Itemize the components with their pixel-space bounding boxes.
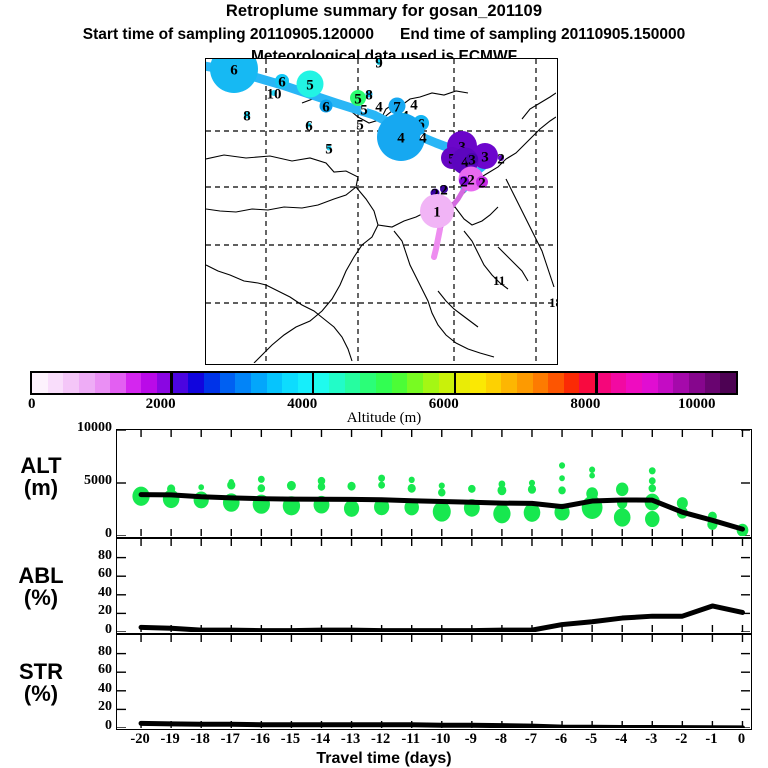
colorbar-band (517, 373, 533, 393)
xaxis-tick-label: -4 (615, 731, 627, 748)
alt-ytick-label: 0 (44, 526, 112, 542)
colorbar-band (267, 373, 283, 393)
xaxis-tick-label: -18 (191, 731, 210, 748)
alt-plot (117, 430, 750, 536)
alt-cluster-blob (287, 481, 296, 491)
alt-cluster-blob (528, 485, 536, 494)
colorbar-band (439, 373, 455, 393)
alt-cluster-blob (258, 476, 265, 483)
ytick-label: 20 (44, 603, 112, 619)
colorbar-separator (312, 371, 315, 395)
colorbar-band (533, 373, 549, 393)
xaxis-tick-label: -8 (495, 731, 507, 748)
map-cluster-label: 9 (375, 59, 383, 72)
xaxis-tick-label: -20 (130, 731, 149, 748)
colorbar-band (345, 373, 361, 393)
alt-cluster-blob (439, 482, 445, 488)
colorbar-band (611, 373, 627, 393)
alt-ytick-label: 10000 (44, 420, 112, 436)
colorbar-gradient (30, 371, 738, 395)
colorbar-band (423, 373, 439, 393)
alt-cluster-blob (589, 473, 595, 479)
colorbar-band (454, 373, 470, 393)
map-cluster-label: 5 (306, 78, 314, 94)
alt-cluster-blob (649, 484, 657, 492)
colorbar-band (220, 373, 236, 393)
alt-cluster-blob (559, 475, 565, 481)
xaxis-tick-label: -5 (585, 731, 597, 748)
map-cluster-label: 10 (267, 87, 282, 103)
alt-cluster-blob (198, 484, 204, 490)
xaxis-tick-label: -6 (555, 731, 567, 748)
colorbar-band (376, 373, 392, 393)
abl-plot (117, 539, 750, 632)
colorbar-band (689, 373, 705, 393)
colorbar-band (548, 373, 564, 393)
ytick-label: 0 (44, 622, 112, 638)
xaxis-tick-label: -2 (675, 731, 687, 748)
colorbar-band (501, 373, 517, 393)
colorbar-title: Altitude (m) (0, 410, 768, 427)
xaxis-tick-label: -12 (371, 731, 390, 748)
ytick-label: 40 (44, 681, 112, 697)
alt-cluster-blob (614, 508, 631, 526)
alt-chart-panel[interactable] (116, 429, 752, 538)
alt-cluster-blob (558, 486, 566, 494)
map-cluster-label: 5 (354, 92, 362, 108)
ytick-label: 60 (44, 566, 112, 582)
alt-cluster-blob (258, 484, 266, 492)
ytick-label: 20 (44, 699, 112, 715)
alt-cluster-blob (378, 475, 385, 482)
xaxis-tick-label: -13 (341, 731, 360, 748)
map-cluster-label: 8 (365, 88, 373, 104)
colorbar-band (48, 373, 64, 393)
altitude-colorbar (30, 371, 738, 395)
end-time-label: End time of sampling 20110905.150000 (400, 26, 685, 44)
map-cluster-label: 2 (497, 152, 505, 168)
start-time-label: Start time of sampling 20110905.120000 (83, 26, 374, 44)
colorbar-band (392, 373, 408, 393)
colorbar-band (626, 373, 642, 393)
alt-cluster-blob (378, 482, 385, 489)
alt-cluster-blob (649, 467, 656, 474)
alt-ytick-label: 5000 (44, 473, 112, 489)
colorbar-band (470, 373, 486, 393)
map-cluster-label: 4 (410, 98, 418, 114)
colorbar-band (235, 373, 251, 393)
xaxis-tick-label: -17 (221, 731, 240, 748)
alt-cluster-blob (409, 477, 415, 483)
alt-cluster-blob (347, 482, 355, 491)
str-plot (117, 635, 750, 728)
map-cluster-label: 4 (419, 131, 427, 147)
colorbar-band (673, 373, 689, 393)
map-cluster-label: 6 (322, 100, 330, 116)
alt-cluster-blob (586, 487, 598, 500)
xaxis-tick-labels: -20-19-18-17-16-15-14-13-12-11-10-9-8-7-… (0, 731, 768, 751)
alt-cluster-blob (468, 485, 476, 493)
alt-cluster-blob (649, 477, 656, 484)
map-cluster-label: 4 (375, 100, 383, 116)
page-title: Retroplume summary for gosan_201109 (0, 2, 768, 21)
map-cluster-label: 3 (481, 150, 489, 166)
alt-cluster-blob (433, 502, 451, 522)
alt-cluster-blob (167, 484, 175, 493)
colorbar-band (126, 373, 142, 393)
xaxis-tick-label: -3 (645, 731, 657, 748)
colorbar-band (486, 373, 502, 393)
map-grid-label: 11 (493, 273, 505, 289)
alt-cluster-blob (438, 489, 446, 497)
xaxis-tick-label: -9 (465, 731, 477, 748)
ytick-label: 60 (44, 662, 112, 678)
colorbar-separator (595, 371, 598, 395)
xaxis-tick-label: -10 (431, 731, 450, 748)
alt-cluster-blob (677, 497, 688, 509)
alt-cluster-blob (616, 483, 628, 497)
ytick-label: 80 (44, 644, 112, 660)
alt-cluster-blob (344, 500, 359, 517)
colorbar-band (579, 373, 595, 393)
map-grid-label: 18 (549, 295, 558, 311)
xaxis-tick-label: -11 (401, 731, 420, 748)
colorbar-band (63, 373, 79, 393)
xaxis-tick-label: -15 (281, 731, 300, 748)
xaxis-tick-label: -19 (160, 731, 179, 748)
colorbar-band (204, 373, 220, 393)
alt-cluster-blob (408, 484, 416, 493)
map-cluster-label: 1 (433, 205, 441, 221)
map-cluster-label: 2 (460, 175, 468, 191)
alt-cluster-blob (318, 477, 326, 485)
colorbar-band (642, 373, 658, 393)
xaxis-tick-label: 0 (738, 731, 745, 748)
xaxis-tick-label: -14 (311, 731, 330, 748)
colorbar-band (329, 373, 345, 393)
map-cluster-label: 4 (397, 131, 405, 147)
map-cluster-markers: 661059886555447464465335432222221 (210, 59, 505, 228)
alt-cluster-blob (645, 511, 660, 527)
colorbar-separator (454, 371, 457, 395)
colorbar-band (173, 373, 189, 393)
alt-cluster-blob (559, 462, 565, 468)
colorbar-band (32, 373, 48, 393)
xaxis-tick-label: -1 (705, 731, 717, 748)
ytick-label: 40 (44, 585, 112, 601)
colorbar-band (658, 373, 674, 393)
alt-cluster-blob (493, 504, 510, 523)
alt-cluster-blob (589, 467, 595, 473)
ytick-label: 80 (44, 548, 112, 564)
str-chart-panel[interactable] (116, 634, 752, 730)
colorbar-band (564, 373, 580, 393)
alt-cluster-blob (499, 480, 506, 487)
alt-cluster-blob (228, 479, 234, 485)
map-cluster-label: 6 (230, 63, 238, 79)
map-cluster-label: 3 (468, 153, 476, 169)
retroplume-map[interactable]: 661059886555447464465335432222221 1118 (205, 58, 558, 365)
colorbar-band (79, 373, 95, 393)
map-cluster-label: 8 (243, 109, 251, 125)
colorbar-separator (170, 371, 173, 395)
map-cluster-label: 6 (305, 119, 313, 135)
colorbar-band (407, 373, 423, 393)
colorbar-band (314, 373, 330, 393)
colorbar-band (95, 373, 111, 393)
colorbar-band (720, 373, 736, 393)
colorbar-band (282, 373, 298, 393)
colorbar-band (251, 373, 267, 393)
alt-cluster-blob (529, 480, 535, 486)
abl-chart-panel[interactable] (116, 538, 752, 634)
map-cluster-label: 5 (325, 142, 333, 158)
map-cluster-label: 5 (356, 118, 364, 134)
xaxis-title: Travel time (days) (0, 750, 768, 768)
xaxis-tick-label: -16 (251, 731, 270, 748)
xaxis-tick-label: -7 (525, 731, 537, 748)
colorbar-band (188, 373, 204, 393)
colorbar-band (110, 373, 126, 393)
colorbar-band (705, 373, 721, 393)
map-graphics: 661059886555447464465335432222221 (206, 59, 556, 363)
colorbar-band (141, 373, 157, 393)
sampling-time-row: Start time of sampling 20110905.120000En… (0, 26, 768, 44)
map-cluster-label: 2 (478, 176, 486, 192)
colorbar-band (360, 373, 376, 393)
